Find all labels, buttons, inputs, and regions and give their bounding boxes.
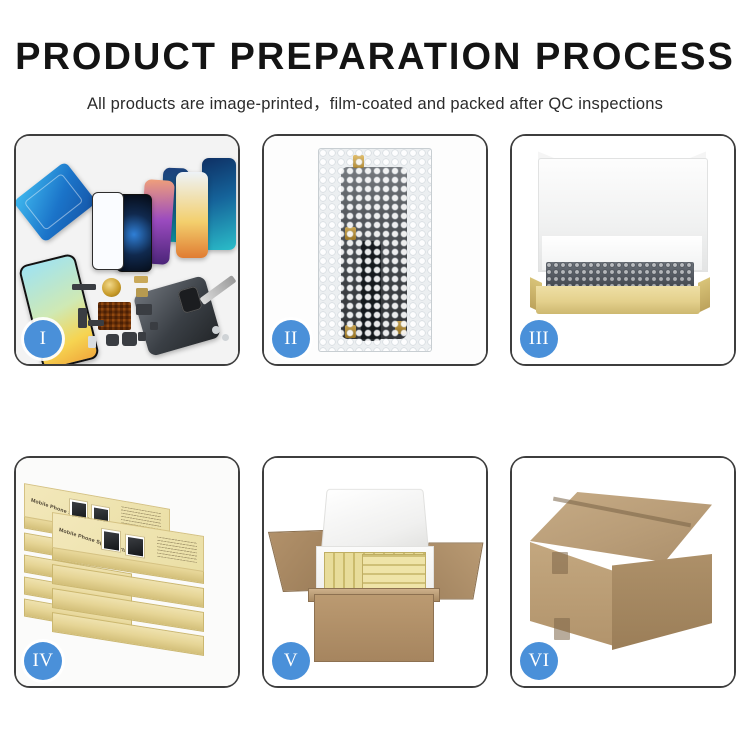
- step-card-3[interactable]: III: [510, 134, 736, 366]
- yellow-boxes-inside: [362, 554, 426, 592]
- carton-tape-mark: [552, 552, 568, 574]
- small-part: [78, 308, 87, 328]
- gold-coil-part: [102, 278, 121, 297]
- bubble-texture: [319, 149, 431, 351]
- small-part: [136, 304, 152, 315]
- carton-tape-mark: [554, 618, 570, 640]
- step-card-2[interactable]: II: [262, 134, 488, 366]
- step-badge-5: V: [272, 642, 310, 680]
- small-part: [122, 332, 137, 346]
- small-part: [222, 334, 229, 341]
- screen-protector-glass: [92, 192, 124, 270]
- small-part: [134, 276, 148, 283]
- page-subtitle: All products are image-printed，film-coat…: [0, 90, 750, 114]
- step-card-1[interactable]: I: [14, 134, 240, 366]
- step-card-4[interactable]: Mobile Phone Spare Parts Mobile Phone Sp…: [14, 456, 240, 688]
- step-badge-1: I: [24, 320, 62, 358]
- step-badge-4: IV: [24, 642, 62, 680]
- page-title: PRODUCT PREPARATION PROCESS: [0, 38, 750, 78]
- step-card-6[interactable]: VI: [510, 456, 736, 688]
- step-card-5[interactable]: V: [262, 456, 488, 688]
- step-badge-2: II: [272, 320, 310, 358]
- bubble-wrapped-contents: [546, 262, 694, 288]
- small-part: [72, 284, 96, 290]
- small-part: [106, 334, 119, 346]
- small-part: [88, 320, 104, 326]
- phone-orange-white: [176, 172, 208, 258]
- box-front-kraft: [536, 286, 700, 314]
- small-part: [138, 332, 146, 341]
- step-badge-3: III: [520, 320, 558, 358]
- small-part: [150, 322, 158, 330]
- bubble-wrap-bag: [318, 148, 432, 352]
- step-badge-6: VI: [520, 642, 558, 680]
- styrofoam-lid: [321, 489, 429, 551]
- process-steps-grid: I II: [14, 134, 736, 688]
- page-header: PRODUCT PREPARATION PROCESS All products…: [0, 0, 750, 114]
- small-part: [88, 336, 96, 348]
- small-part: [212, 326, 220, 334]
- carton-front-panel: [314, 594, 434, 662]
- small-part: [136, 288, 148, 297]
